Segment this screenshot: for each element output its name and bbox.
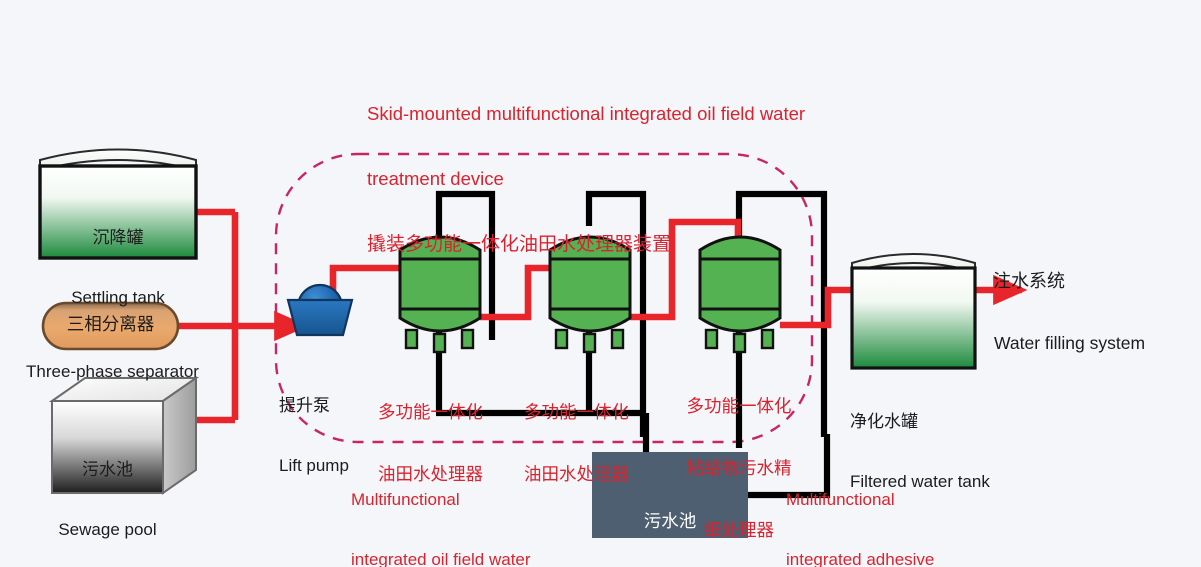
lift-pump xyxy=(288,285,352,335)
left-device-annotation-line-2: integrated oil field water xyxy=(351,550,587,567)
left-device-annotation: Multifunctional integrated oil field wat… xyxy=(351,450,587,567)
sewage-pool-left-label: 污水池 Sewage pool xyxy=(48,420,167,567)
diagram-canvas: Skid-mounted multifunctional integrated … xyxy=(0,0,1201,567)
outlet-label-zh: 注水系统 xyxy=(993,271,1193,292)
three-phase-separator-label-zh: 三相分离器 xyxy=(43,314,178,335)
settling-tank-label-zh: 沉降罐 xyxy=(40,228,196,248)
left-device-annotation-line-1: Multifunctional xyxy=(351,490,587,510)
sewage-pool-left-label-en: Sewage pool xyxy=(48,520,167,540)
settling-tank-label-en: Settling tank xyxy=(40,288,196,308)
vessel-1-label-line-1: 多功能一体化 xyxy=(378,402,510,423)
filtered-water-tank-label-zh: 净化水罐 xyxy=(850,412,1050,432)
title-en-line-2: treatment device xyxy=(367,168,947,190)
sewage-pool-left-label-zh: 污水池 xyxy=(48,460,167,480)
right-device-annotation: Multifunctional integrated adhesive sewa… xyxy=(786,450,1016,567)
sewage-pool-center-label-zh: 污水池 xyxy=(592,511,748,532)
title-en-line-1: Skid-mounted multifunctional integrated … xyxy=(367,103,947,125)
title-zh: 撬装多功能一体化油田水处理器装置 xyxy=(367,234,947,256)
vessel-2-label-line-1: 多功能一体化 xyxy=(524,402,656,423)
three-phase-separator-label-en: Three-phase separator xyxy=(0,362,225,382)
diagram-title: Skid-mounted multifunctional integrated … xyxy=(367,59,947,300)
right-device-annotation-line-1: Multifunctional xyxy=(786,490,1016,510)
vessel-3-label-line-1: 多功能一体化 xyxy=(673,396,805,417)
sewage-pool-center-label: 污水池 Sewage pool xyxy=(592,470,748,567)
outlet-label-en: Water filling system xyxy=(994,333,1201,354)
right-device-annotation-line-2: integrated adhesive xyxy=(786,550,1016,567)
